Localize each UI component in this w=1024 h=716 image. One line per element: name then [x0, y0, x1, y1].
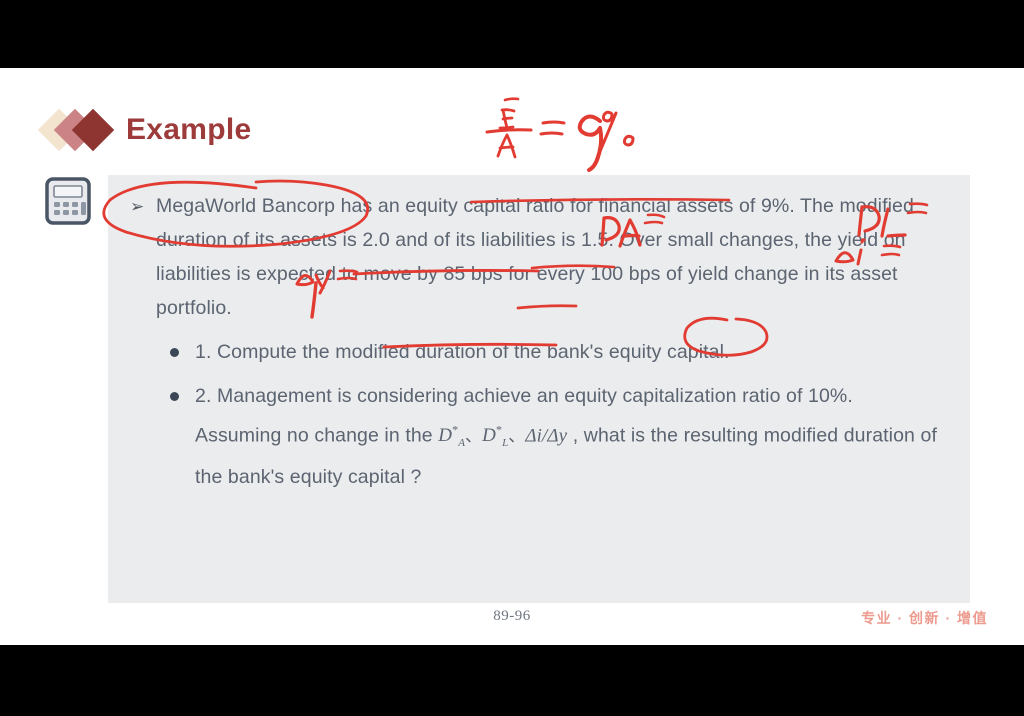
main-paragraph: MegaWorld Bancorp has an equity capital … — [156, 189, 942, 325]
math-var-delta-i-delta-y: Δi/Δy — [525, 425, 567, 446]
video-player-frame: Example ➢ — [0, 0, 1024, 716]
question-2-text: 2. Management is considering achieve an … — [195, 379, 942, 494]
slide-surface: Example ➢ — [0, 68, 1024, 645]
letterbox-bar-top — [0, 0, 1024, 68]
math-var-d-l: D*L — [482, 425, 508, 446]
ink-e-overbar — [505, 99, 518, 100]
list-item: 2. Management is considering achieve an … — [170, 379, 942, 494]
math-var-d-a: D*A — [438, 425, 465, 446]
diamonds-decoration-icon — [44, 108, 122, 152]
calculator-icon — [44, 176, 92, 226]
content-panel: ➢ MegaWorld Bancorp has an equity capita… — [108, 175, 970, 603]
arrow-bullet-icon: ➢ — [130, 189, 156, 224]
main-paragraph-row: ➢ MegaWorld Bancorp has an equity capita… — [130, 189, 942, 325]
page-title: Example — [126, 115, 252, 145]
ink-fraction-bar — [487, 130, 531, 132]
question-1-text: 1. Compute the modified duration of the … — [195, 335, 942, 369]
bullet-dot-icon — [170, 392, 179, 401]
bullet-dot-icon — [170, 348, 179, 357]
question-list: 1. Compute the modified duration of the … — [130, 335, 942, 494]
ink-e-numerator — [500, 110, 514, 128]
slide-header: Example — [44, 108, 252, 152]
math-separator-2: 、 — [508, 426, 525, 445]
math-separator-1: 、 — [465, 426, 482, 445]
ink-nine — [580, 117, 601, 171]
letterbox-bar-bottom — [0, 645, 1024, 716]
ink-equals — [541, 122, 564, 134]
list-item: 1. Compute the modified duration of the … — [170, 335, 942, 369]
ink-percent — [598, 112, 633, 156]
brand-slogan: 专业 · 创新 · 增值 — [861, 608, 988, 628]
ink-a-denominator — [498, 135, 515, 157]
